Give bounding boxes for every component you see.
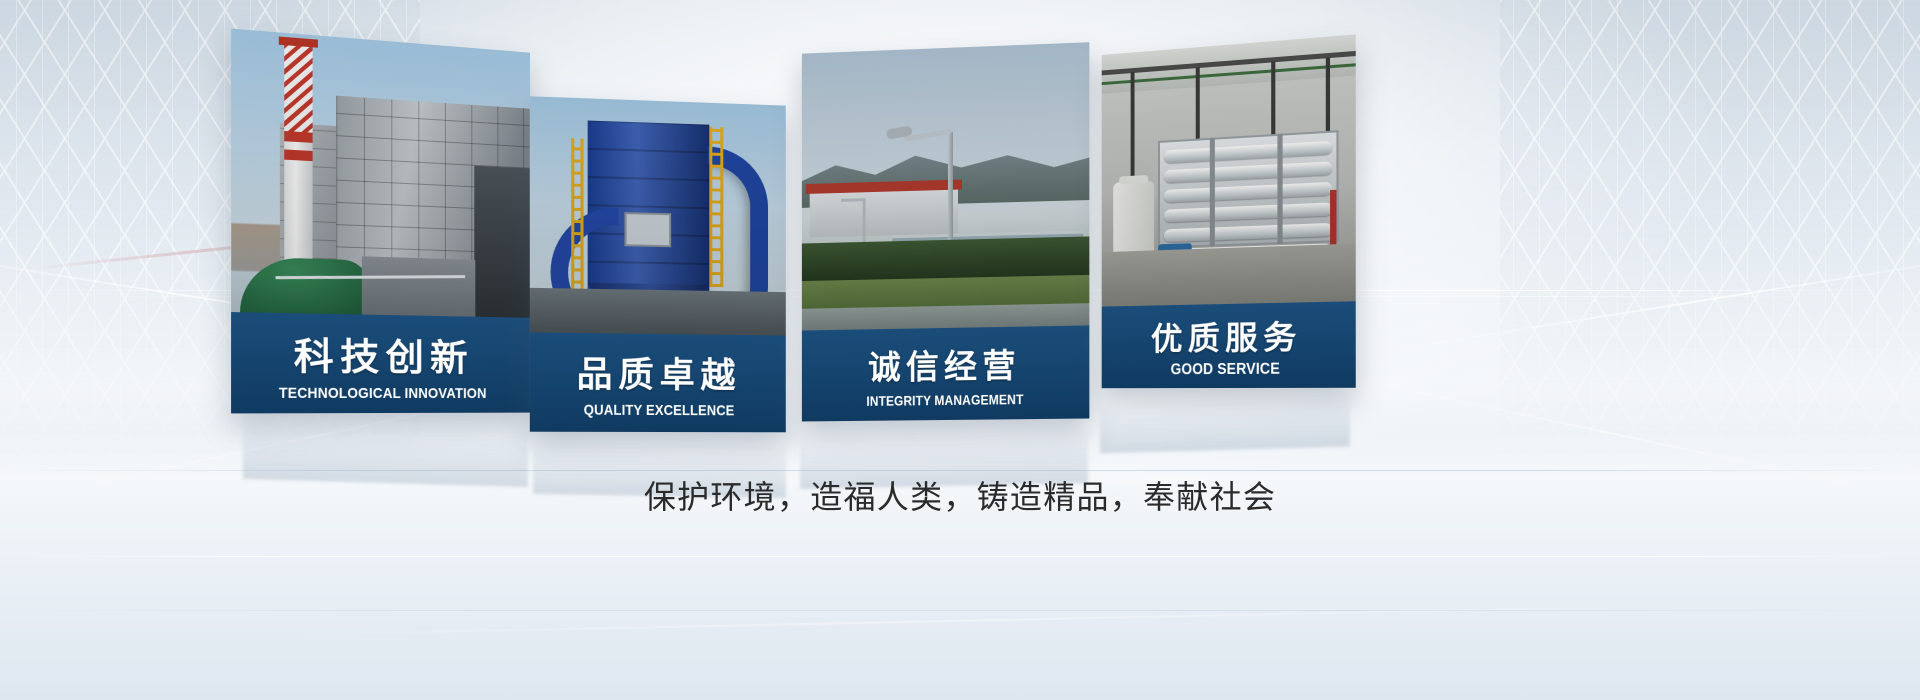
hero-banner: 科技创新 TECHNOLOGICAL INNOVATION <box>0 0 1920 700</box>
photo-vignette <box>802 42 1089 330</box>
ro-membrane-skid-photo <box>1102 34 1356 306</box>
photo-vignette <box>530 96 786 335</box>
sewage-treatment-plant-photo <box>802 42 1089 330</box>
panel-title-cn: 科技创新 <box>294 325 474 381</box>
panel-title-en: TECHNOLOGICAL INNOVATION <box>279 384 487 401</box>
feature-panel-integrity-management[interactable]: 诚信经营 INTEGRITY MANAGEMENT <box>802 42 1089 421</box>
panel-group: 科技创新 TECHNOLOGICAL INNOVATION <box>0 0 1920 700</box>
panel-title-cn: 优质服务 <box>1151 312 1302 360</box>
feature-panel-technological-innovation[interactable]: 科技创新 TECHNOLOGICAL INNOVATION <box>231 29 530 414</box>
feature-panel-quality-excellence[interactable]: 品质卓越 QUALITY EXCELLENCE <box>530 96 786 432</box>
panel-caption: 科技创新 TECHNOLOGICAL INNOVATION <box>231 312 530 413</box>
panel-caption: 诚信经营 INTEGRITY MANAGEMENT <box>802 325 1089 421</box>
panel-title-en: QUALITY EXCELLENCE <box>584 402 735 420</box>
panel-title-en: INTEGRITY MANAGEMENT <box>866 391 1023 409</box>
chimney-stack-plant-photo <box>231 29 530 318</box>
blue-dust-collector-photo <box>530 96 786 335</box>
panel-title-cn: 品质卓越 <box>577 346 741 398</box>
banner-tagline: 保护环境，造福人类，铸造精品，奉献社会 <box>0 472 1920 518</box>
panel-caption: 品质卓越 QUALITY EXCELLENCE <box>530 332 786 432</box>
panel-title-cn: 诚信经营 <box>868 339 1021 389</box>
panel-title-en: GOOD SERVICE <box>1171 361 1280 380</box>
panel-caption: 优质服务 GOOD SERVICE <box>1102 301 1356 388</box>
photo-vignette <box>1102 34 1356 306</box>
feature-panel-good-service[interactable]: 优质服务 GOOD SERVICE <box>1102 34 1356 388</box>
photo-vignette <box>231 29 530 318</box>
